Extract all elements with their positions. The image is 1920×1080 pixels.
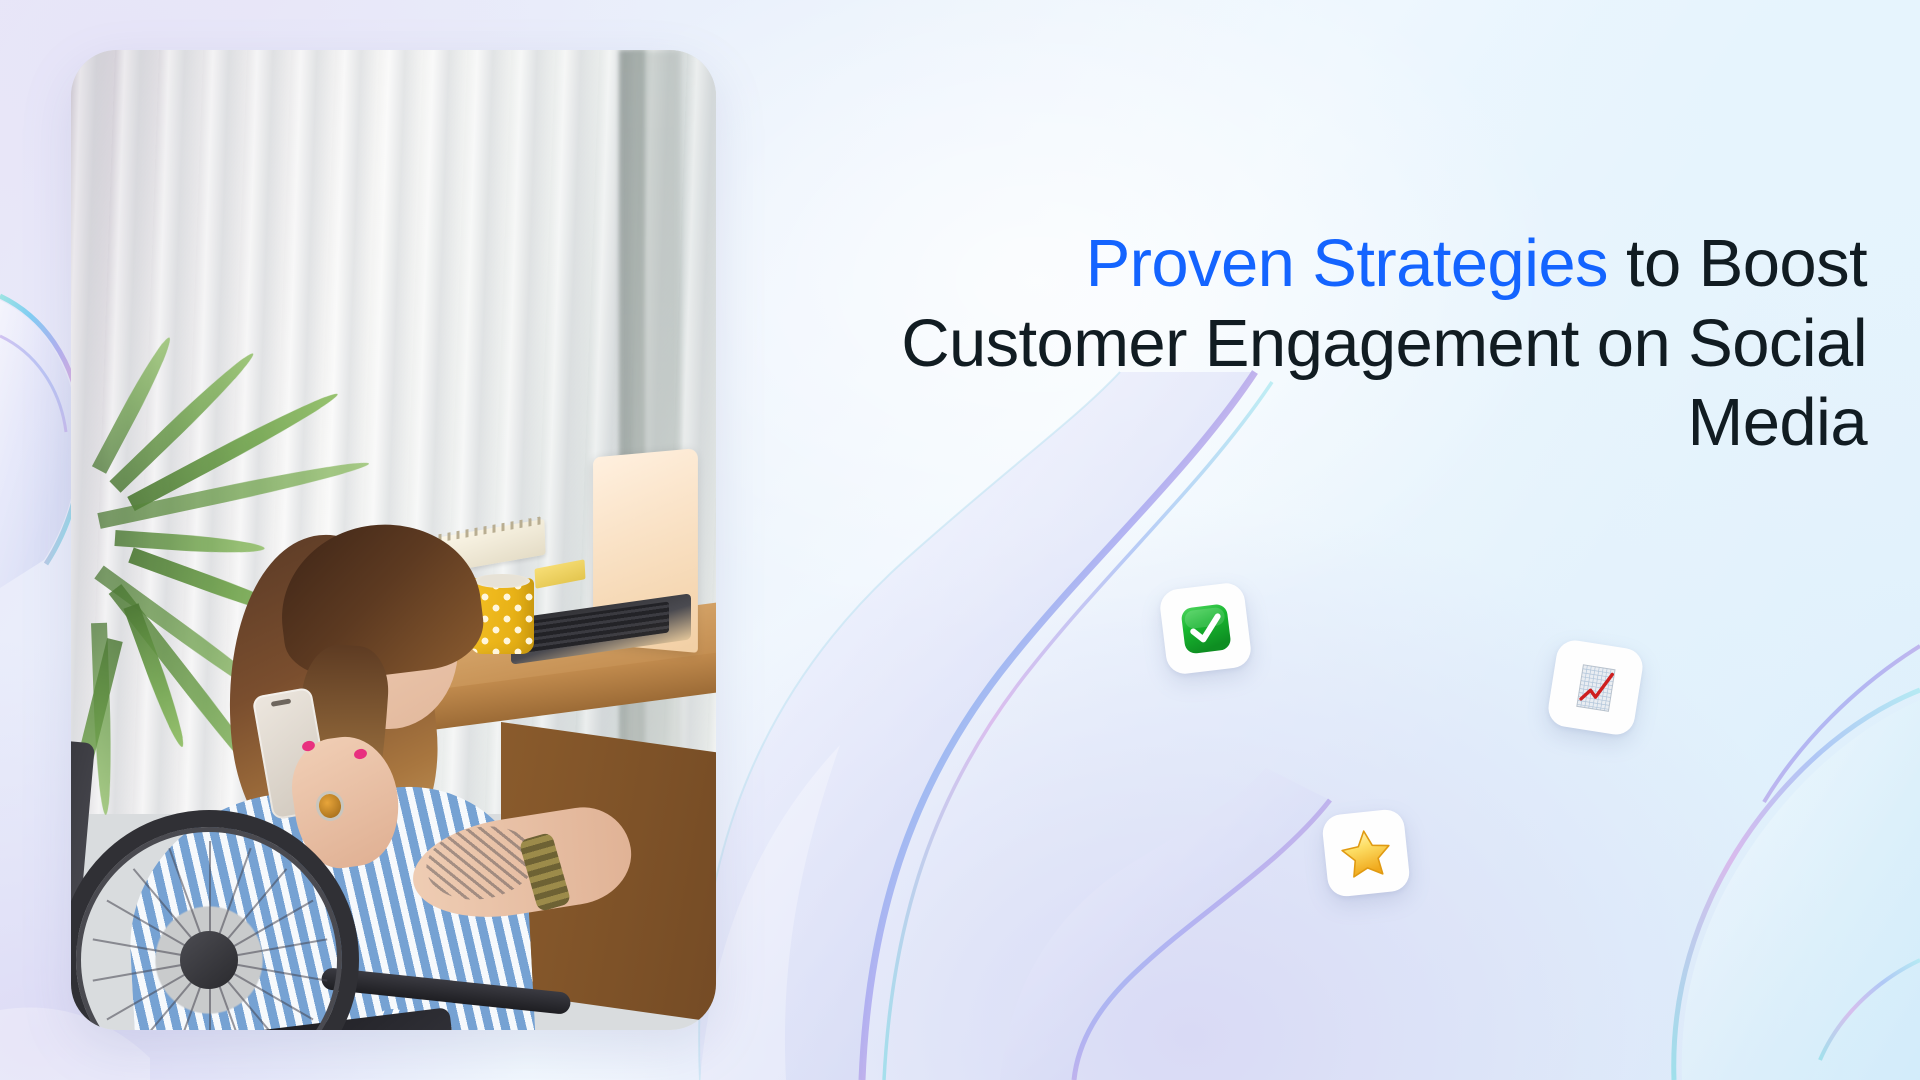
page-title: Proven Strategies to Boost Customer Enga… (807, 224, 1867, 463)
chart-increasing-icon (1565, 657, 1627, 719)
star-icon (1337, 824, 1394, 881)
palm-frond (92, 334, 177, 474)
chart-increasing-badge (1546, 638, 1646, 738)
check-mark-button-icon (1177, 600, 1235, 658)
wheel-hub (180, 931, 238, 989)
star-badge (1321, 808, 1411, 898)
check-mark-badge (1158, 581, 1253, 676)
photo-scene (71, 50, 716, 1030)
phone-earpiece (271, 698, 292, 706)
headline-accent: Proven Strategies (1086, 226, 1608, 301)
hero-photo (71, 50, 716, 1030)
